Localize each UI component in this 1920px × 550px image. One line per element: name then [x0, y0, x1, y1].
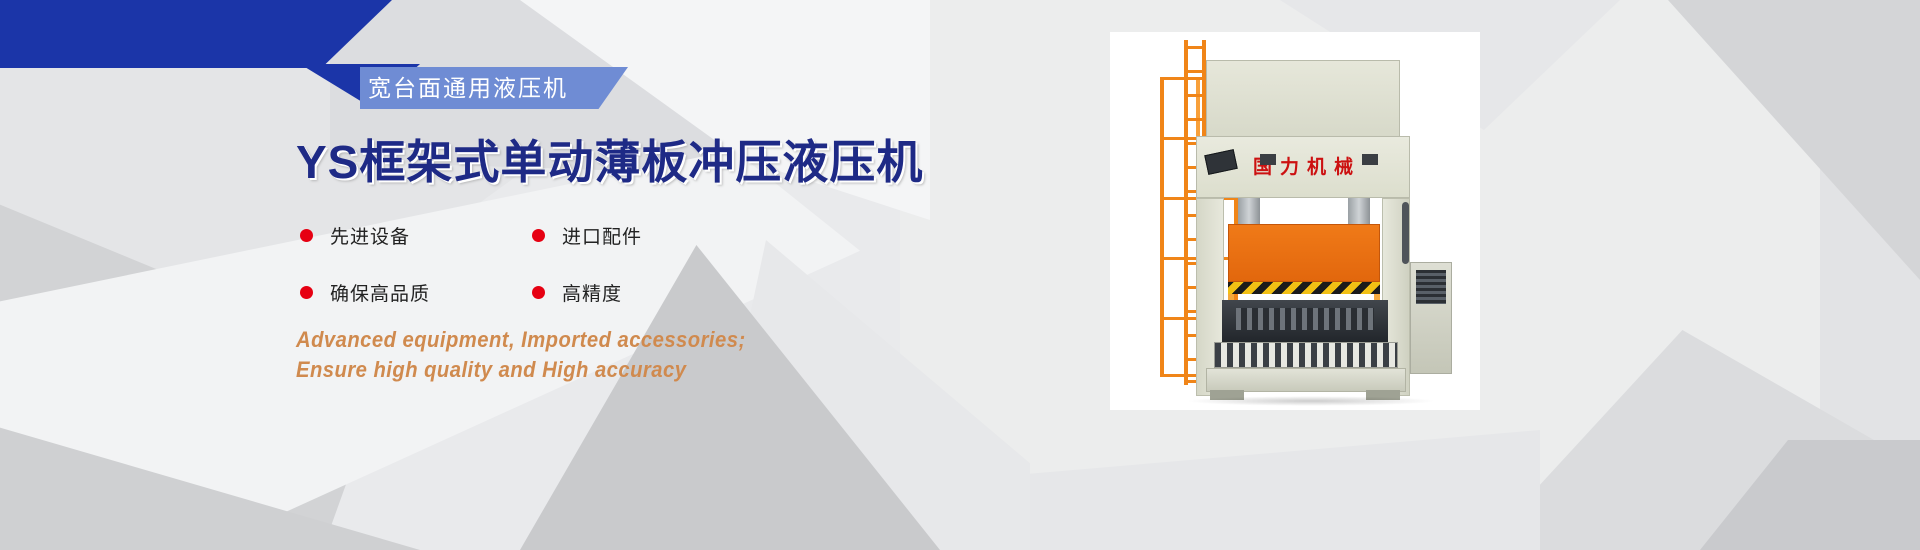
- tagline-line-1: Advanced equipment, Imported accessories…: [296, 325, 746, 355]
- press-crown: [1206, 60, 1400, 138]
- bullet-dot-icon: [532, 286, 545, 299]
- nameplate-tag: [1260, 154, 1276, 165]
- floor-shadow: [1186, 396, 1436, 406]
- press-base: [1206, 368, 1406, 392]
- feature-label: 进口配件: [562, 222, 642, 249]
- tagline: Advanced equipment, Imported accessories…: [296, 325, 746, 385]
- product-photo: 国力机械: [1110, 32, 1480, 410]
- feature-label: 先进设备: [330, 222, 410, 249]
- die-detail: [1236, 308, 1374, 330]
- feature-label: 高精度: [562, 279, 622, 306]
- subtitle-text: 宽台面通用液压机: [368, 67, 568, 109]
- ladder-step: [1184, 118, 1206, 121]
- ladder-step: [1184, 94, 1206, 97]
- press-ram: [1228, 224, 1380, 282]
- page-title: YS框架式单动薄板冲压液压机: [296, 126, 923, 192]
- cage-rail: [1160, 77, 1164, 377]
- press-bolster-table: [1214, 342, 1398, 368]
- feature-item-1: 先进设备: [300, 222, 532, 249]
- feature-item-3: 确保高品质: [300, 279, 532, 306]
- control-screen: [1416, 270, 1446, 304]
- hydraulic-press-illustration: 国力机械: [1110, 32, 1480, 410]
- feature-item-2: 进口配件: [532, 222, 720, 249]
- bullet-dot-icon: [532, 229, 545, 242]
- feature-item-4: 高精度: [532, 279, 720, 306]
- tagline-line-2: Ensure high quality and High accuracy: [296, 355, 746, 385]
- feature-list: 先进设备 进口配件 确保高品质 高精度: [300, 222, 720, 306]
- hazard-stripe: [1228, 282, 1380, 294]
- ladder-step: [1184, 46, 1206, 49]
- bullet-dot-icon: [300, 286, 313, 299]
- machine-brand-plate: 国力机械: [1220, 145, 1386, 185]
- ladder-step: [1184, 70, 1206, 73]
- promo-banner: 宽台面通用液压机 YS框架式单动薄板冲压液压机 先进设备 进口配件 确保高品质 …: [0, 0, 1920, 550]
- feature-label: 确保高品质: [330, 279, 430, 306]
- background-facets: [0, 0, 1920, 550]
- hydraulic-hose: [1402, 202, 1409, 264]
- nameplate-tag: [1362, 154, 1378, 165]
- bullet-dot-icon: [300, 229, 313, 242]
